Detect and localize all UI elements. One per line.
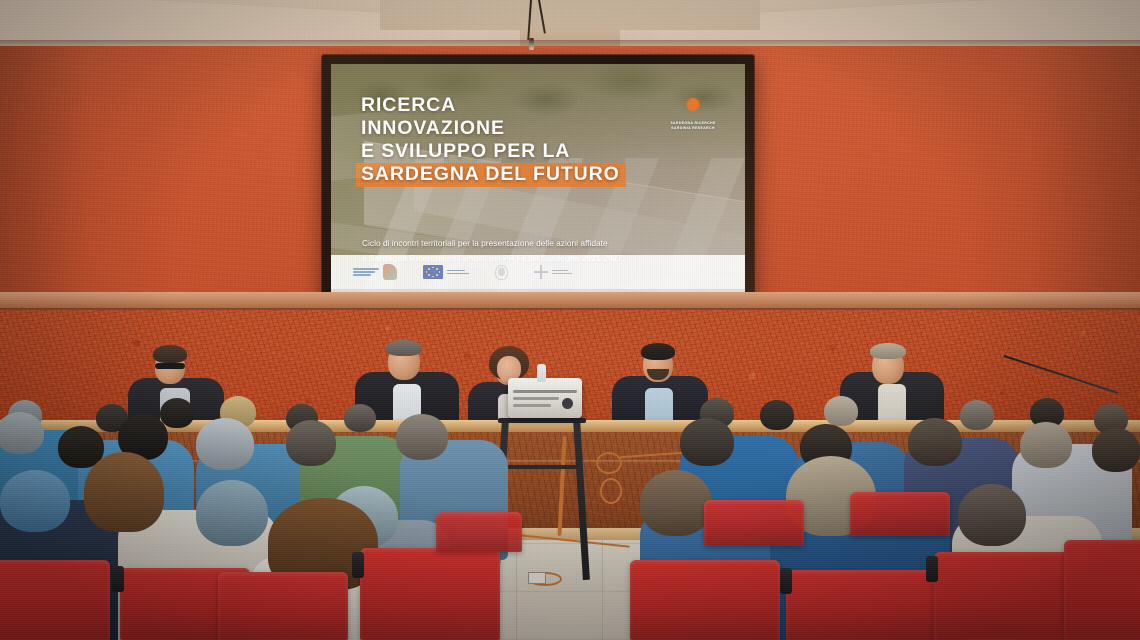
ceiling-hanging-microphone-icon [529,38,534,50]
audience-head [960,400,994,430]
red-auditorium-seat[interactable] [786,570,936,640]
slide-title-line-3: E SVILUPPO PER LA [361,140,651,163]
brand-logo-caption-line-2: SARDINIA RESEARCH [663,126,723,131]
red-auditorium-seat[interactable] [0,560,110,640]
audience-head [286,420,336,466]
floor-cable-loop-1 [596,452,622,474]
seat-armrest [352,552,364,578]
red-auditorium-seat[interactable] [850,492,950,536]
repubblica-italiana-emblem-icon [495,265,508,280]
conference-hall-scene: RICERCA INNOVAZIONE E SVILUPPO PER LA SA… [0,0,1140,640]
panelist-1-glasses-icon [155,363,185,369]
audience-head [1092,428,1140,472]
audience-head [396,414,448,460]
slide-title-line-2: INNOVAZIONE [361,117,651,140]
projector-lens-icon [562,398,573,409]
water-bottle [537,364,546,382]
slide-title-line-4: SARDEGNA DEL FUTURO [356,163,626,187]
audience-head [640,470,712,536]
slide-brand-logo: SARDEGNA RICERCHE SARDINIA RESEARCH [663,90,723,130]
slide-content: RICERCA INNOVAZIONE E SVILUPPO PER LA SA… [331,64,745,311]
seat-armrest [926,556,938,582]
red-auditorium-seat[interactable] [934,552,1080,640]
audience-head [0,470,70,532]
audience-head [680,418,734,466]
regione-sardegna-logo-icon [534,265,572,279]
audience-head [344,404,376,432]
ceiling-center-panel [380,0,760,30]
floor-cable-loop-2 [600,478,622,504]
audience-head [160,398,194,428]
audience-head [760,400,794,430]
red-auditorium-seat[interactable] [704,500,804,546]
wall-shadow-left [0,46,90,299]
red-auditorium-seat[interactable] [218,572,348,640]
audience-head [824,396,858,426]
red-auditorium-seat[interactable] [360,548,500,640]
video-projector [508,378,582,418]
projection-screen-frame: RICERCA INNOVAZIONE E SVILUPPO PER LA SA… [322,55,754,320]
projection-screen: RICERCA INNOVAZIONE E SVILUPPO PER LA SA… [331,64,745,311]
red-auditorium-seat[interactable] [630,560,780,640]
red-auditorium-seat[interactable] [436,512,522,552]
slide-subtitle-line-1: Ciclo di incontri territoriali per la pr… [362,236,712,251]
slide-title: RICERCA INNOVAZIONE E SVILUPPO PER LA SA… [361,94,651,187]
red-auditorium-seat[interactable] [1064,540,1140,640]
audience-head [958,484,1026,546]
seat-armrest [780,568,792,594]
slide-sponsor-logo-bar [331,255,745,289]
audience-head [196,480,268,546]
audience-head [0,412,44,454]
audience-head [908,418,962,466]
wall-shadow-right [1030,46,1140,299]
brand-logo-caption-line-1: SARDEGNA RICERCHE [663,121,723,126]
brand-logo-caption: SARDEGNA RICERCHE SARDINIA RESEARCH [663,121,723,130]
sun-icon [679,90,707,118]
sardegna-ricerche-logo-icon [353,264,397,280]
audience-head [196,418,254,470]
floor-power-outlet-box [528,572,546,584]
audience-head [84,452,164,532]
seat-armrest [112,566,124,592]
slide-title-line-1: RICERCA [361,94,651,117]
audience-head [1020,422,1072,468]
european-union-flag-icon [423,265,469,279]
